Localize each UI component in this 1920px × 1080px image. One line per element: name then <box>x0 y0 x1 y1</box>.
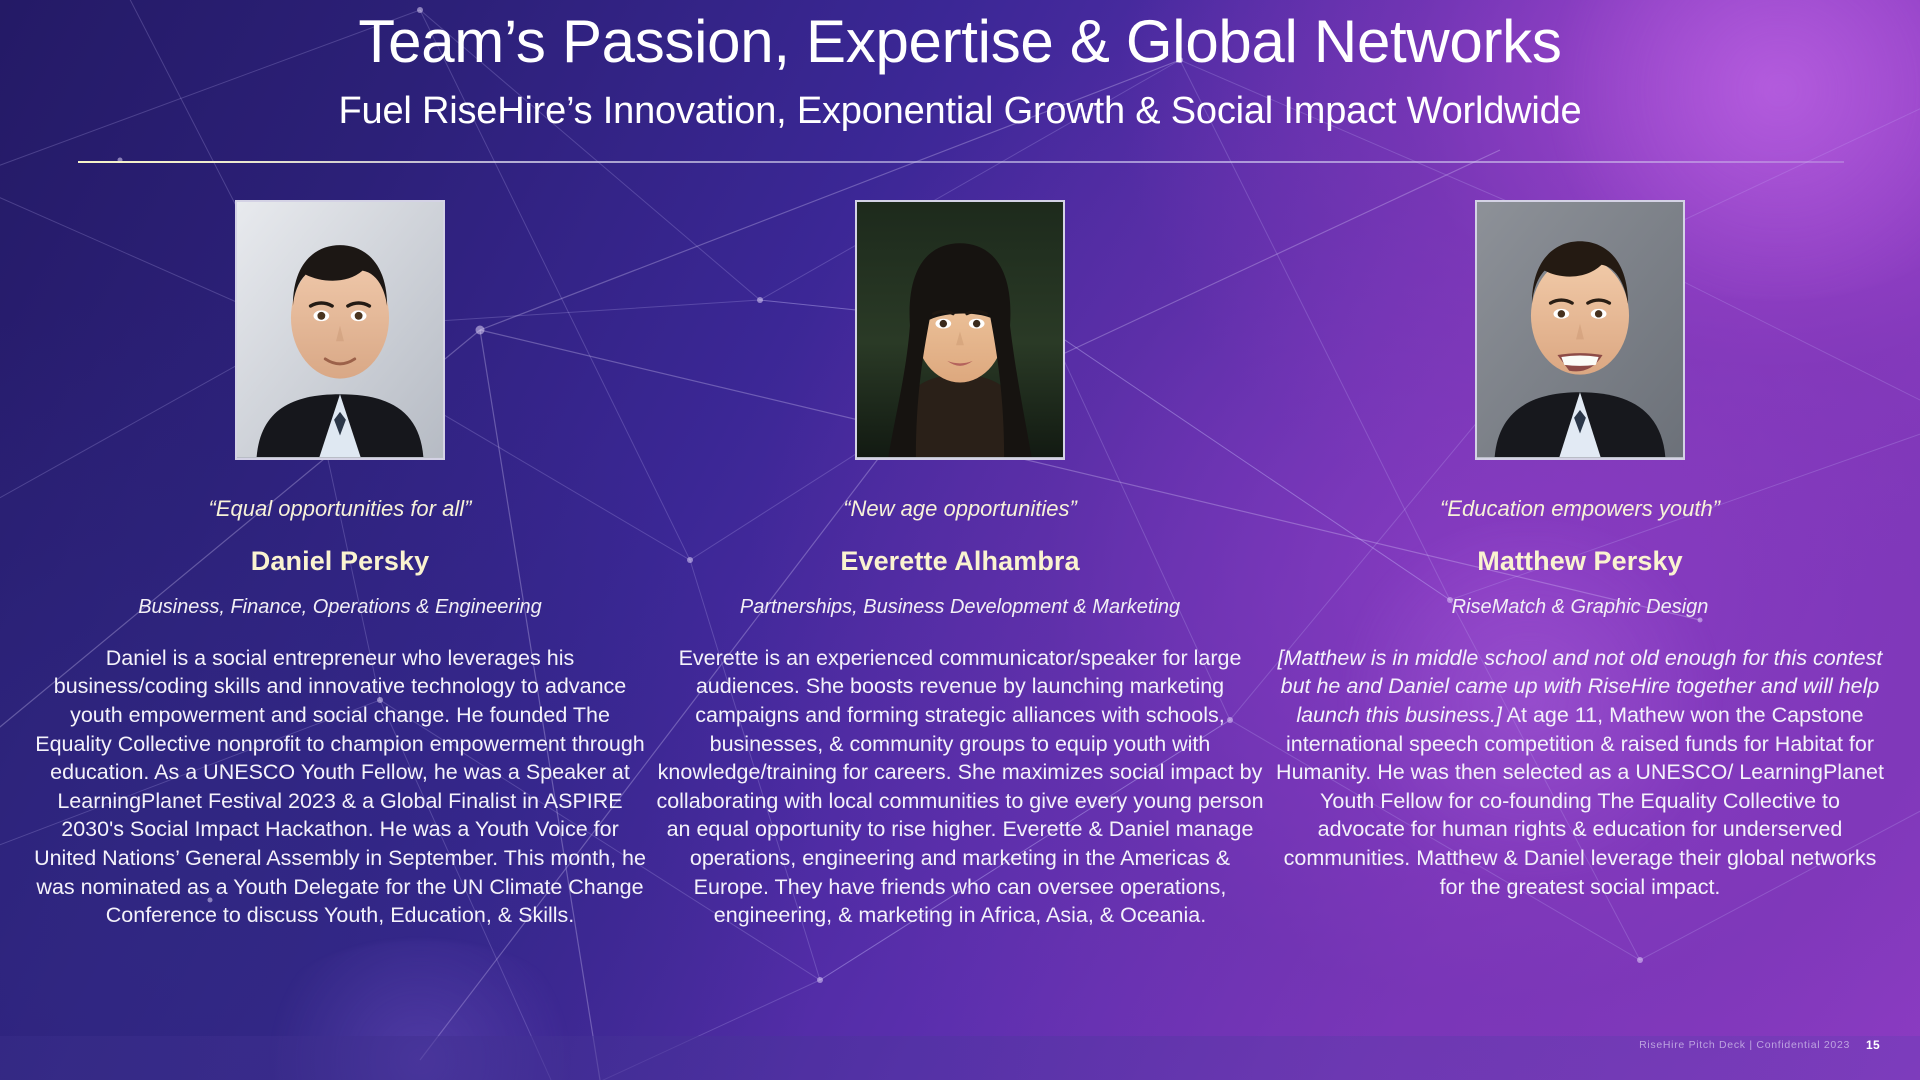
member-quote-3: “Education empowers youth” <box>1440 495 1720 523</box>
matthew-persky-headshot <box>1475 200 1685 460</box>
member-bio-1: Daniel is a social entrepreneur who leve… <box>34 644 646 930</box>
headshot-image-3 <box>1477 202 1683 457</box>
slide-canvas: Team’s Passion, Expertise & Global Netwo… <box>0 0 1920 1080</box>
headshot-image-1 <box>237 202 443 457</box>
member-bio-3: [Matthew is in middle school and not old… <box>1274 644 1886 901</box>
everette-alhambra-headshot <box>855 200 1065 460</box>
footer-label: RiseHire Pitch Deck | Confidential 2023 <box>1639 1039 1850 1051</box>
footer-band <box>0 1036 1920 1080</box>
team-member-columns: “Equal opportunities for all” Daniel Per… <box>0 200 1920 930</box>
page-number: 15 <box>1866 1038 1880 1052</box>
member-quote-2: “New age opportunities” <box>843 495 1077 523</box>
slide-header: Team’s Passion, Expertise & Global Netwo… <box>0 0 1920 132</box>
member-name-1: Daniel Persky <box>251 545 429 577</box>
member-role-2: Partnerships, Business Development & Mar… <box>740 595 1180 620</box>
member-name-2: Everette Alhambra <box>840 545 1079 577</box>
member-quote-1: “Equal opportunities for all” <box>209 495 472 523</box>
member-name-3: Matthew Persky <box>1477 545 1682 577</box>
page-subtitle: Fuel RiseHire’s Innovation, Exponential … <box>0 90 1920 133</box>
member-role-3: RiseMatch & Graphic Design <box>1452 595 1709 620</box>
daniel-persky-headshot <box>235 200 445 460</box>
team-member-card-3: “Education empowers youth” Matthew Persk… <box>1274 200 1886 901</box>
header-divider <box>78 161 1844 163</box>
member-bio-2: Everette is an experienced communicator/… <box>654 644 1266 930</box>
headshot-image-2 <box>857 202 1063 457</box>
page-title: Team’s Passion, Expertise & Global Netwo… <box>0 10 1920 75</box>
member-role-1: Business, Finance, Operations & Engineer… <box>138 595 542 620</box>
team-member-card-1: “Equal opportunities for all” Daniel Per… <box>34 200 646 930</box>
team-member-card-2: “New age opportunities” Everette Alhambr… <box>654 200 1266 930</box>
footer: RiseHire Pitch Deck | Confidential 2023 … <box>1639 1038 1880 1052</box>
member-bio-3-rest: At age 11, Mathew won the Capstone inter… <box>1276 703 1884 899</box>
